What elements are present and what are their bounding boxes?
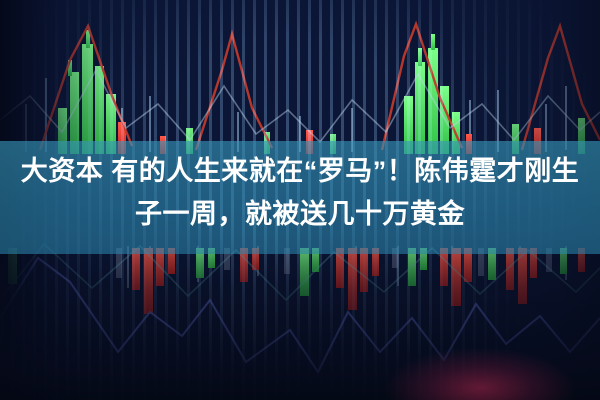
thumbnail-banner: 大资本 有的人生来就在“罗马”！陈伟霆才刚生子一周，就被送几十万黄金 [0,0,600,400]
headline-text: 大资本 有的人生来就在“罗马”！陈伟霆才刚生子一周，就被送几十万黄金 [0,150,600,236]
